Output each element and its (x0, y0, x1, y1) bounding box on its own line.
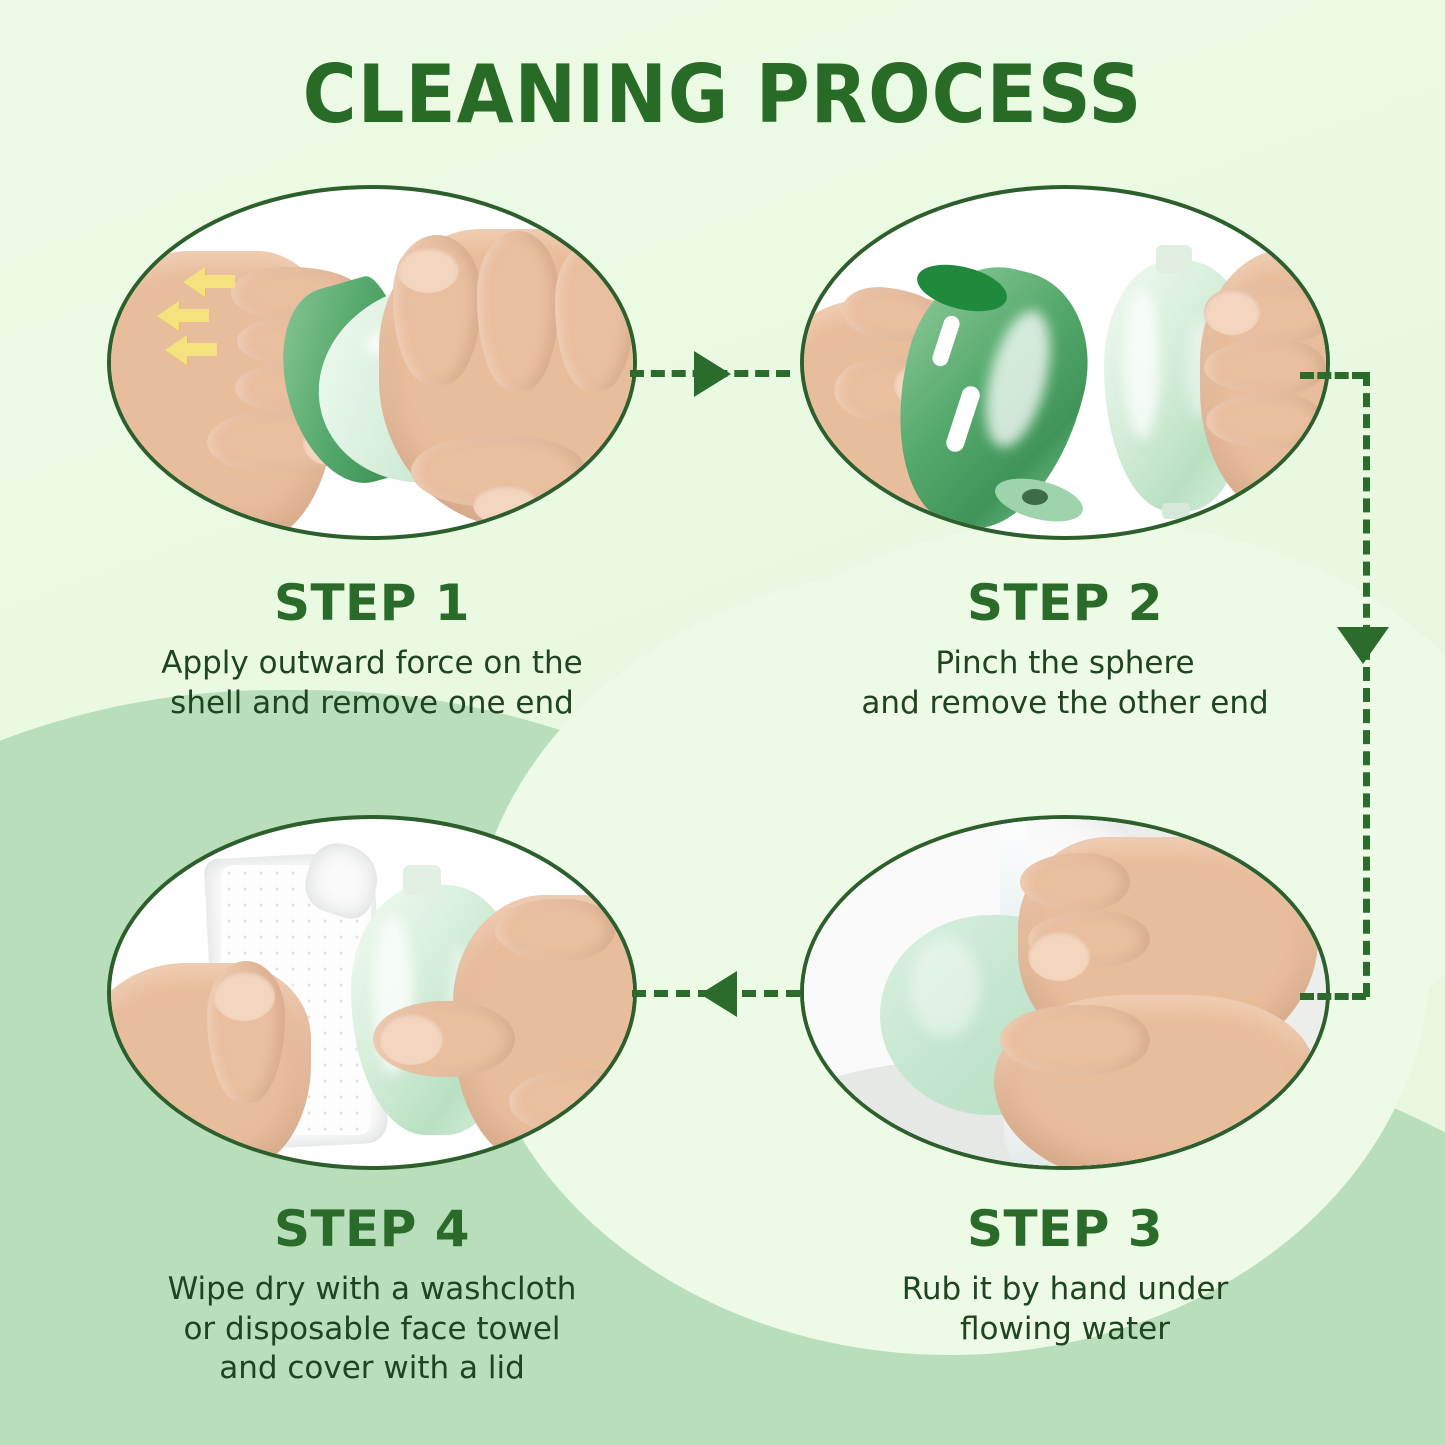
step-2-description: Pinch the sphere and remove the other en… (800, 644, 1330, 723)
step-card-1: STEP 1 Apply outward force on the shell … (107, 185, 637, 723)
step-2-photo (804, 189, 1326, 536)
step-1-label: STEP 1 (107, 574, 637, 632)
step-1-photo (111, 189, 633, 536)
step-2-label: STEP 2 (800, 574, 1330, 632)
step-4-photo-frame (107, 815, 637, 1170)
step-3-photo (804, 819, 1326, 1166)
step-3-label: STEP 3 (800, 1200, 1330, 1258)
step-card-3: STEP 3 Rub it by hand under flowing wate… (800, 815, 1330, 1349)
step-3-description: Rub it by hand under flowing water (800, 1270, 1330, 1349)
step-4-photo (111, 819, 633, 1166)
step-1-photo-frame (107, 185, 637, 540)
step-1-description: Apply outward force on the shell and rem… (107, 644, 637, 723)
step-4-description: Wipe dry with a washcloth or disposable … (107, 1270, 637, 1389)
step-3-photo-frame (800, 815, 1330, 1170)
step-card-2: STEP 2 Pinch the sphere and remove the o… (800, 185, 1330, 723)
step-2-photo-frame (800, 185, 1330, 540)
cleaning-process-infographic: CLEANING PROCESS (0, 0, 1445, 1445)
step-card-4: STEP 4 Wipe dry with a washcloth or disp… (107, 815, 637, 1389)
step-4-label: STEP 4 (107, 1200, 637, 1258)
page-title: CLEANING PROCESS (58, 48, 1387, 141)
